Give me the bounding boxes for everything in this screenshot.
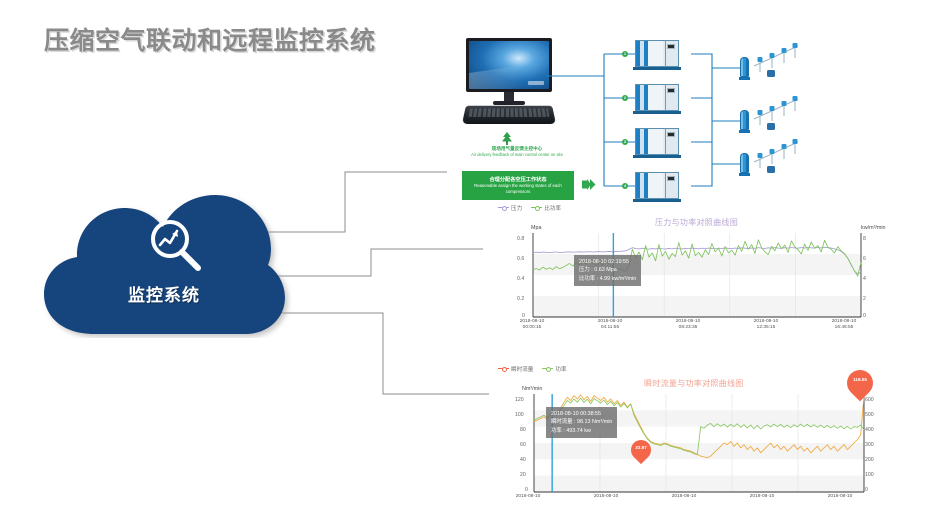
tooltip-row: 比功率 : 4.99 kw/m³/min	[579, 275, 636, 283]
chart1-xtick: 2018-08-10 04:11:55	[575, 319, 645, 332]
chart2-xtick: 2018-08-10	[495, 494, 561, 500]
chart-magnifier-icon	[146, 215, 206, 275]
xtick-date: 2018-08-10	[598, 319, 623, 324]
page-title: 压缩空气联动和远程监控系统	[44, 21, 376, 57]
xtick-time: 16:46:55	[835, 325, 854, 330]
xtick-date: 2018-08-10	[520, 319, 545, 324]
slide-root: 压缩空气联动和远程监控系统 监控系统	[0, 0, 945, 529]
monitoring-cloud[interactable]: 监控系统	[36, 186, 292, 338]
chart2-xtick: 2018-08-10	[573, 494, 639, 500]
chart2-pin-low[interactable]: 33.87	[631, 440, 651, 466]
chart1-xtick: 2018-08-10 08:23:35	[653, 319, 723, 332]
system-diagram: 现场用气量反馈主控中心 Air delivery feedback of mai…	[442, 26, 942, 206]
chart1-xtick: 2018-08-10 12:35:15	[731, 319, 801, 332]
xtick-date: 2018-08-10	[832, 319, 857, 324]
tooltip-row: 压力 : 0.63 Mpa	[579, 266, 636, 274]
chart1-tooltip: 2018-08-10 02:19:55 压力 : 0.63 Mpa 比功率 : …	[574, 255, 641, 286]
pin-label: 33.87	[631, 445, 651, 450]
chart1-plot[interactable]	[489, 203, 909, 335]
xtick-time: 00:00:15	[523, 325, 542, 330]
pressure-chart-card[interactable]: 压力 比功率 压力与功率对照曲线图 Mpa kw/m³/min 0.8 0.6 …	[489, 203, 909, 335]
chart2-tooltip: 2018-08-10 00:38:55 瞬时流量 : 98.13 Nm³/min…	[546, 407, 617, 438]
xtick-date: 2018-08-10	[676, 319, 701, 324]
tooltip-timestamp: 2018-08-10 00:38:55	[551, 410, 612, 418]
tooltip-timestamp: 2018-08-10 02:19:55	[579, 258, 636, 266]
chart2-xtick: 2018-08-10	[651, 494, 717, 500]
xtick-time: 12:35:15	[757, 325, 776, 330]
chart2-xtick: 2018-08-10	[807, 494, 873, 500]
xtick-time: 04:11:55	[601, 325, 619, 330]
chart1-xtick: 2018-08-10 16:46:55	[809, 319, 879, 332]
tooltip-row: 瞬时流量 : 98.13 Nm³/min	[551, 418, 612, 426]
chart2-xtick: 2018-08-10	[729, 494, 795, 500]
flow-power-chart-card[interactable]: 瞬时流量 功率 瞬时流量与功率对照曲线图 Nm³/min 120 100 80 …	[489, 364, 909, 512]
pin-label: 118.55	[847, 377, 873, 382]
xtick-date: 2018-08-10	[754, 319, 779, 324]
downstream-tools	[442, 26, 942, 206]
xtick-time: 08:23:35	[679, 325, 698, 330]
chart2-pin-high[interactable]: 118.55	[847, 370, 873, 402]
chart1-xtick: 2018-08-10 00:00:15	[497, 319, 567, 332]
tooltip-row: 功率 : 493.74 kw	[551, 427, 612, 435]
cloud-label: 监控系统	[36, 281, 292, 306]
